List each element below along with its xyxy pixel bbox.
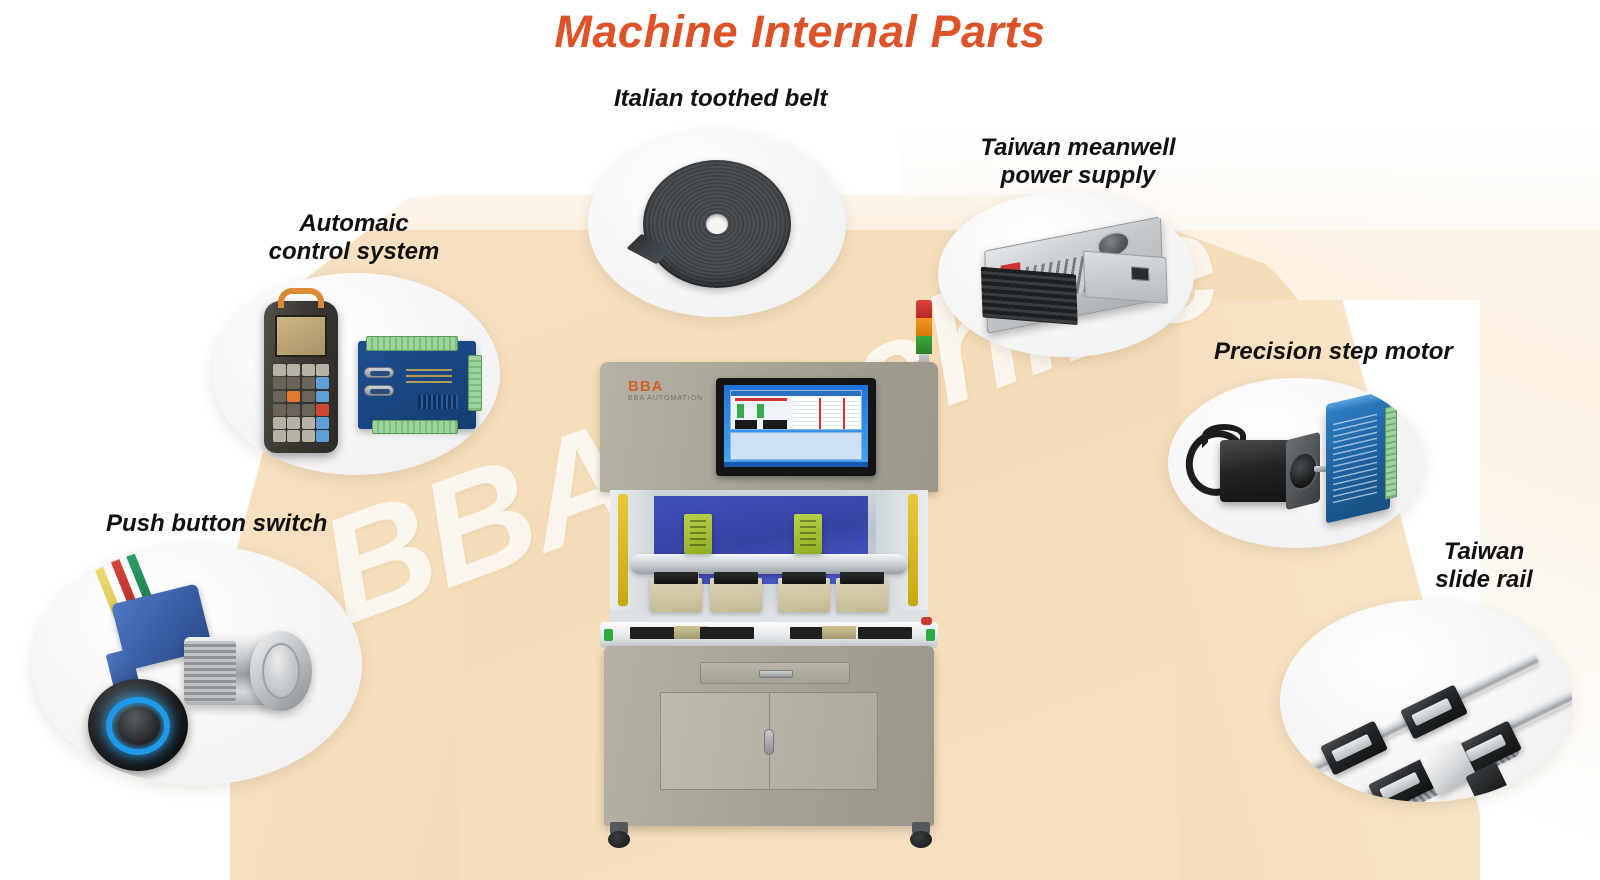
pcb-silkscreen-text	[406, 369, 452, 387]
pcb-db9-connector-2-icon	[364, 385, 394, 396]
controller-board-icon	[358, 341, 476, 429]
hmi-window-titlebar	[731, 391, 861, 396]
cabinet-doors[interactable]	[660, 692, 878, 790]
work-fixture	[650, 578, 702, 612]
worktable-plate	[700, 627, 754, 639]
cabinet-drawer[interactable]	[700, 662, 850, 684]
machine-brand-logo: BBA	[628, 378, 664, 395]
hmi-monitor-bezel	[716, 378, 876, 476]
callout-label-slide-rail: Taiwan slide rail	[1428, 538, 1540, 594]
toothed-belt-center-hole-icon	[706, 214, 728, 234]
dispensing-head-unit	[684, 514, 712, 554]
pcb-terminal-block-right	[468, 355, 482, 411]
dispensing-head-unit	[794, 514, 822, 554]
tower-light-green	[916, 336, 932, 354]
pcb-db9-connector-1-icon	[364, 367, 394, 378]
work-fixture	[836, 578, 888, 612]
machine-start-button[interactable]	[604, 629, 613, 641]
tower-light-red	[916, 300, 932, 318]
hmi-grid-marker	[819, 398, 821, 429]
tower-light-amber	[916, 318, 932, 336]
callout-bubble-push-button	[32, 545, 362, 785]
hmi-software-window	[730, 390, 862, 430]
hmi-status-indicator	[757, 404, 764, 418]
push-button-actuator-face	[262, 643, 300, 699]
hmi-data-grid	[793, 398, 859, 429]
hmi-status-indicator	[737, 404, 744, 418]
gantry-beam	[630, 554, 908, 574]
hmi-taskbar	[724, 462, 868, 467]
drawer-handle-icon[interactable]	[759, 670, 793, 678]
rail-carriage-block	[1400, 684, 1468, 739]
machine-photo: BBA BBA AUTOMATION	[586, 300, 956, 880]
callout-bubble-power-supply	[938, 192, 1194, 357]
callout-bubble-control-system	[212, 273, 500, 475]
servo-drive-dip-label	[1333, 414, 1377, 504]
worktable-tray	[822, 626, 856, 639]
pendant-keypad	[273, 364, 329, 442]
work-fixture	[710, 578, 762, 612]
cabinet-door-latch-icon[interactable]	[764, 729, 774, 755]
hmi-lower-pane	[730, 432, 862, 460]
pcb-terminal-block-bottom	[372, 420, 458, 434]
callout-label-step-motor: Precision step motor	[1214, 338, 1453, 366]
callout-bubble-slide-rail	[1280, 600, 1572, 802]
machine-start-button[interactable]	[926, 629, 935, 641]
pcb-terminal-block-top	[366, 336, 458, 351]
servo-drive-icon	[1326, 397, 1390, 524]
hmi-grid-marker	[843, 398, 845, 429]
power-supply-front-panel	[1083, 251, 1168, 304]
power-supply-socket-icon	[1131, 267, 1149, 282]
hmi-readout-panel	[735, 420, 757, 429]
handheld-pendant-icon	[264, 301, 338, 453]
hmi-screen[interactable]	[724, 385, 868, 467]
machine-base-cabinet	[604, 646, 934, 826]
light-curtain-left-icon	[618, 494, 628, 606]
callout-label-power-supply: Taiwan meanwell power supply	[980, 134, 1176, 190]
machine-upper-cabinet: BBA BBA AUTOMATION	[600, 362, 938, 492]
pendant-handle-icon	[278, 288, 324, 308]
machine-caster-wheel	[910, 822, 932, 848]
callout-bubble-toothed-belt	[588, 131, 846, 317]
worktable-plate	[858, 627, 912, 639]
machine-caster-wheel	[608, 822, 630, 848]
machine-emergency-stop-button[interactable]	[921, 617, 932, 625]
machine-worktable	[600, 622, 938, 648]
work-area-left-panel	[610, 490, 654, 610]
rail-carriage-block	[1320, 720, 1388, 775]
callout-label-toothed-belt: Italian toothed belt	[614, 85, 827, 113]
callout-label-control-system: Automaic control system	[266, 210, 442, 266]
push-button-threaded-body	[184, 641, 236, 701]
machine-work-area	[610, 490, 928, 625]
pendant-screen	[275, 315, 327, 357]
callout-bubble-step-motor	[1168, 378, 1424, 548]
pcb-ic-chip-icon	[418, 395, 458, 409]
power-supply-heatsink-fins	[981, 267, 1078, 325]
push-button-black-dome	[118, 707, 160, 745]
light-curtain-right-icon	[908, 494, 918, 606]
hmi-alert-bar	[735, 398, 787, 401]
power-supply-icon	[984, 216, 1164, 333]
infographic-canvas: BBA Machine Machine Internal Parts Itali…	[0, 0, 1600, 880]
servo-drive-terminal-block	[1385, 405, 1397, 500]
page-title: Machine Internal Parts	[0, 6, 1600, 58]
hmi-readout-panel	[763, 420, 787, 429]
callout-label-push-button: Push button switch	[106, 510, 327, 538]
work-fixture	[778, 578, 830, 612]
servo-drive-top-panel	[1326, 390, 1390, 415]
machine-brand-subtext: BBA AUTOMATION	[628, 395, 703, 402]
